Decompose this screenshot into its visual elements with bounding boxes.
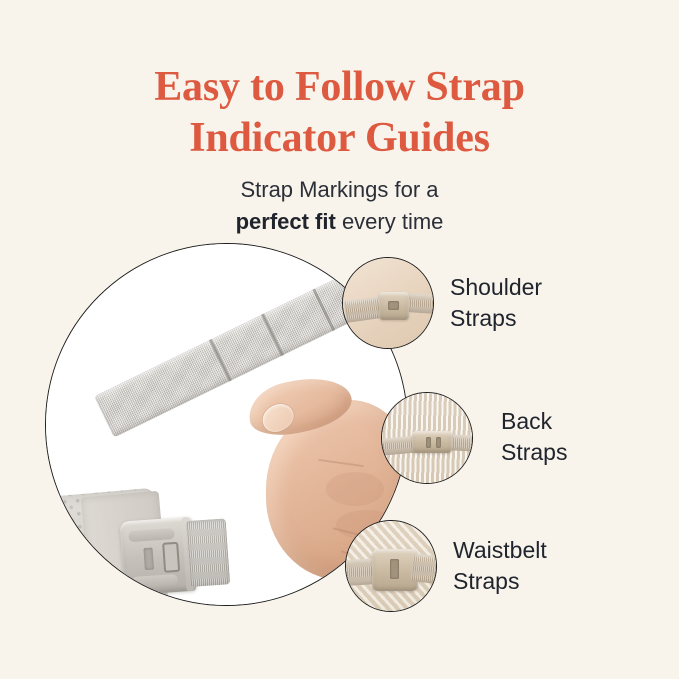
page-title: Easy to Follow Strap Indicator Guides xyxy=(0,62,679,164)
waistbelt-strap-webbing xyxy=(411,553,437,584)
buckle-slot xyxy=(143,548,154,571)
buckle-arm xyxy=(128,528,175,542)
callout-label-back: Back Straps xyxy=(501,406,567,468)
hand-crease xyxy=(318,459,364,467)
strap-indicator-mark xyxy=(261,313,284,356)
side-release-buckle xyxy=(119,508,231,601)
page-subtitle-line-2: perfect fit every time xyxy=(0,206,679,238)
buckle-arm xyxy=(131,574,178,588)
callout-circle-waistbelt xyxy=(345,520,437,612)
page-subtitle: Strap Markings for a perfect fit every t… xyxy=(0,174,679,238)
back-buckle-slot xyxy=(436,437,441,448)
page-subtitle-line-1: Strap Markings for a xyxy=(0,174,679,206)
back-buckle xyxy=(412,431,452,453)
back-buckle-slot xyxy=(426,437,431,448)
callout-label-waistbelt-line-1: Waistbelt xyxy=(453,535,547,566)
waistbelt-buckle-slot xyxy=(390,559,399,579)
callout-label-waistbelt-line-2: Straps xyxy=(453,566,547,597)
hand-knuckle xyxy=(326,472,384,506)
strap-indicator-mark xyxy=(209,339,232,382)
infographic-root: Easy to Follow Strap Indicator Guides St… xyxy=(0,0,679,679)
callout-label-back-line-1: Back xyxy=(501,406,567,437)
callout-label-back-line-2: Straps xyxy=(501,437,567,468)
buckle-strap-tail xyxy=(186,518,231,587)
shoulder-buckle-slot xyxy=(388,301,399,310)
strap-indicator-mark xyxy=(312,288,335,331)
callout-label-shoulder-line-2: Straps xyxy=(450,303,542,334)
callout-circle-shoulder xyxy=(342,257,434,349)
page-subtitle-emphasis: perfect fit xyxy=(236,209,336,234)
callout-circle-back xyxy=(381,392,473,484)
thumb-nail xyxy=(258,399,299,438)
callout-label-shoulder: Shoulder Straps xyxy=(450,272,542,334)
buckle-slot xyxy=(162,542,180,573)
callout-label-shoulder-line-1: Shoulder xyxy=(450,272,542,303)
page-title-line-1: Easy to Follow Strap xyxy=(0,62,679,113)
callout-label-waistbelt: Waistbelt Straps xyxy=(453,535,547,597)
page-title-line-2: Indicator Guides xyxy=(0,113,679,164)
page-subtitle-tail: every time xyxy=(336,209,444,234)
